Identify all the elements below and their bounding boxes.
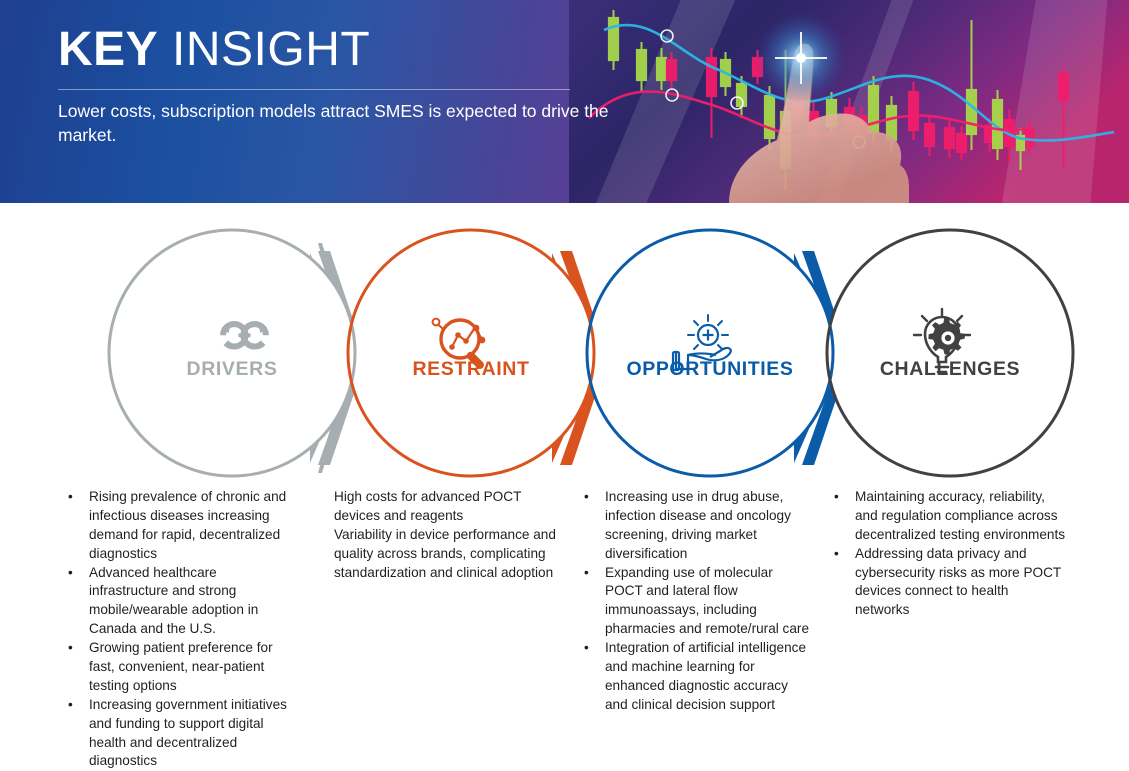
page-title-bold: KEY <box>58 23 158 76</box>
header-subtitle: Lower costs, subscription models attract… <box>58 99 648 147</box>
list-item-text: Increasing use in drug abuse, infection … <box>605 488 810 564</box>
bullet-glyph: • <box>68 488 89 507</box>
list-item-text: Growing patient preference for fast, con… <box>89 639 296 696</box>
bullet-glyph: • <box>834 545 855 564</box>
list-item-text: Rising prevalence of chronic and infecti… <box>89 488 296 564</box>
stage-circles-svg <box>0 203 1129 493</box>
column-restraint: High costs for advanced POCT devices and… <box>334 488 558 582</box>
list-item: •Addressing data privacy and cybersecuri… <box>834 545 1066 621</box>
list-item: •Rising prevalence of chronic and infect… <box>68 488 296 564</box>
column-drivers: •Rising prevalence of chronic and infect… <box>68 488 296 771</box>
stage-label-restraint[interactable]: RESTRAINT <box>371 358 571 381</box>
header-artwork <box>569 0 1129 203</box>
bullet-glyph: • <box>584 639 605 658</box>
list-item-text: Increasing government initiatives and fu… <box>89 696 296 771</box>
bullet-glyph: • <box>584 564 605 583</box>
list-item: •Increasing use in drug abuse, infection… <box>584 488 810 564</box>
bullet-glyph: • <box>68 696 89 715</box>
title-divider <box>58 89 570 90</box>
bullet-glyph: • <box>834 488 855 507</box>
list-item: •Advanced healthcare infrastructure and … <box>68 564 296 640</box>
list-item-text: Expanding use of molecular POCT and late… <box>605 564 810 640</box>
list-item: •Expanding use of molecular POCT and lat… <box>584 564 810 640</box>
list-item: High costs for advanced POCT devices and… <box>334 488 558 526</box>
list-item-text: Addressing data privacy and cybersecurit… <box>855 545 1066 621</box>
list-item-text: Integration of artificial intelligence a… <box>605 639 810 715</box>
list-item-text: Advanced healthcare infrastructure and s… <box>89 564 296 640</box>
column-challenges: •Maintaining accuracy, reliability, and … <box>834 488 1066 620</box>
list-item: •Increasing government initiatives and f… <box>68 696 296 771</box>
bullet-glyph: • <box>68 564 89 583</box>
header-banner: KEY INSIGHT Lower costs, subscription mo… <box>0 0 1129 203</box>
list-item: •Integration of artificial intelligence … <box>584 639 810 715</box>
list-item: •Maintaining accuracy, reliability, and … <box>834 488 1066 545</box>
detail-columns: •Rising prevalence of chronic and infect… <box>0 488 1129 755</box>
column-opportunities: •Increasing use in drug abuse, infection… <box>584 488 810 715</box>
page-title-light: INSIGHT <box>158 23 370 76</box>
stage-label-opportunities[interactable]: OPPORTUNITIES <box>600 358 820 381</box>
bullet-glyph: • <box>68 639 89 658</box>
page-title: KEY INSIGHT <box>58 26 370 74</box>
list-item: Variability in device performance and qu… <box>334 526 558 583</box>
stage-label-drivers[interactable]: DRIVERS <box>132 358 332 381</box>
list-item: •Growing patient preference for fast, co… <box>68 639 296 696</box>
stage-circles-row: DRIVERS RESTRAINT OPPORTUNITIES CHALLENG… <box>0 203 1129 493</box>
bullet-glyph: • <box>584 488 605 507</box>
stage-label-challenges[interactable]: CHALLENGES <box>850 358 1050 381</box>
list-item-text: Maintaining accuracy, reliability, and r… <box>855 488 1066 545</box>
